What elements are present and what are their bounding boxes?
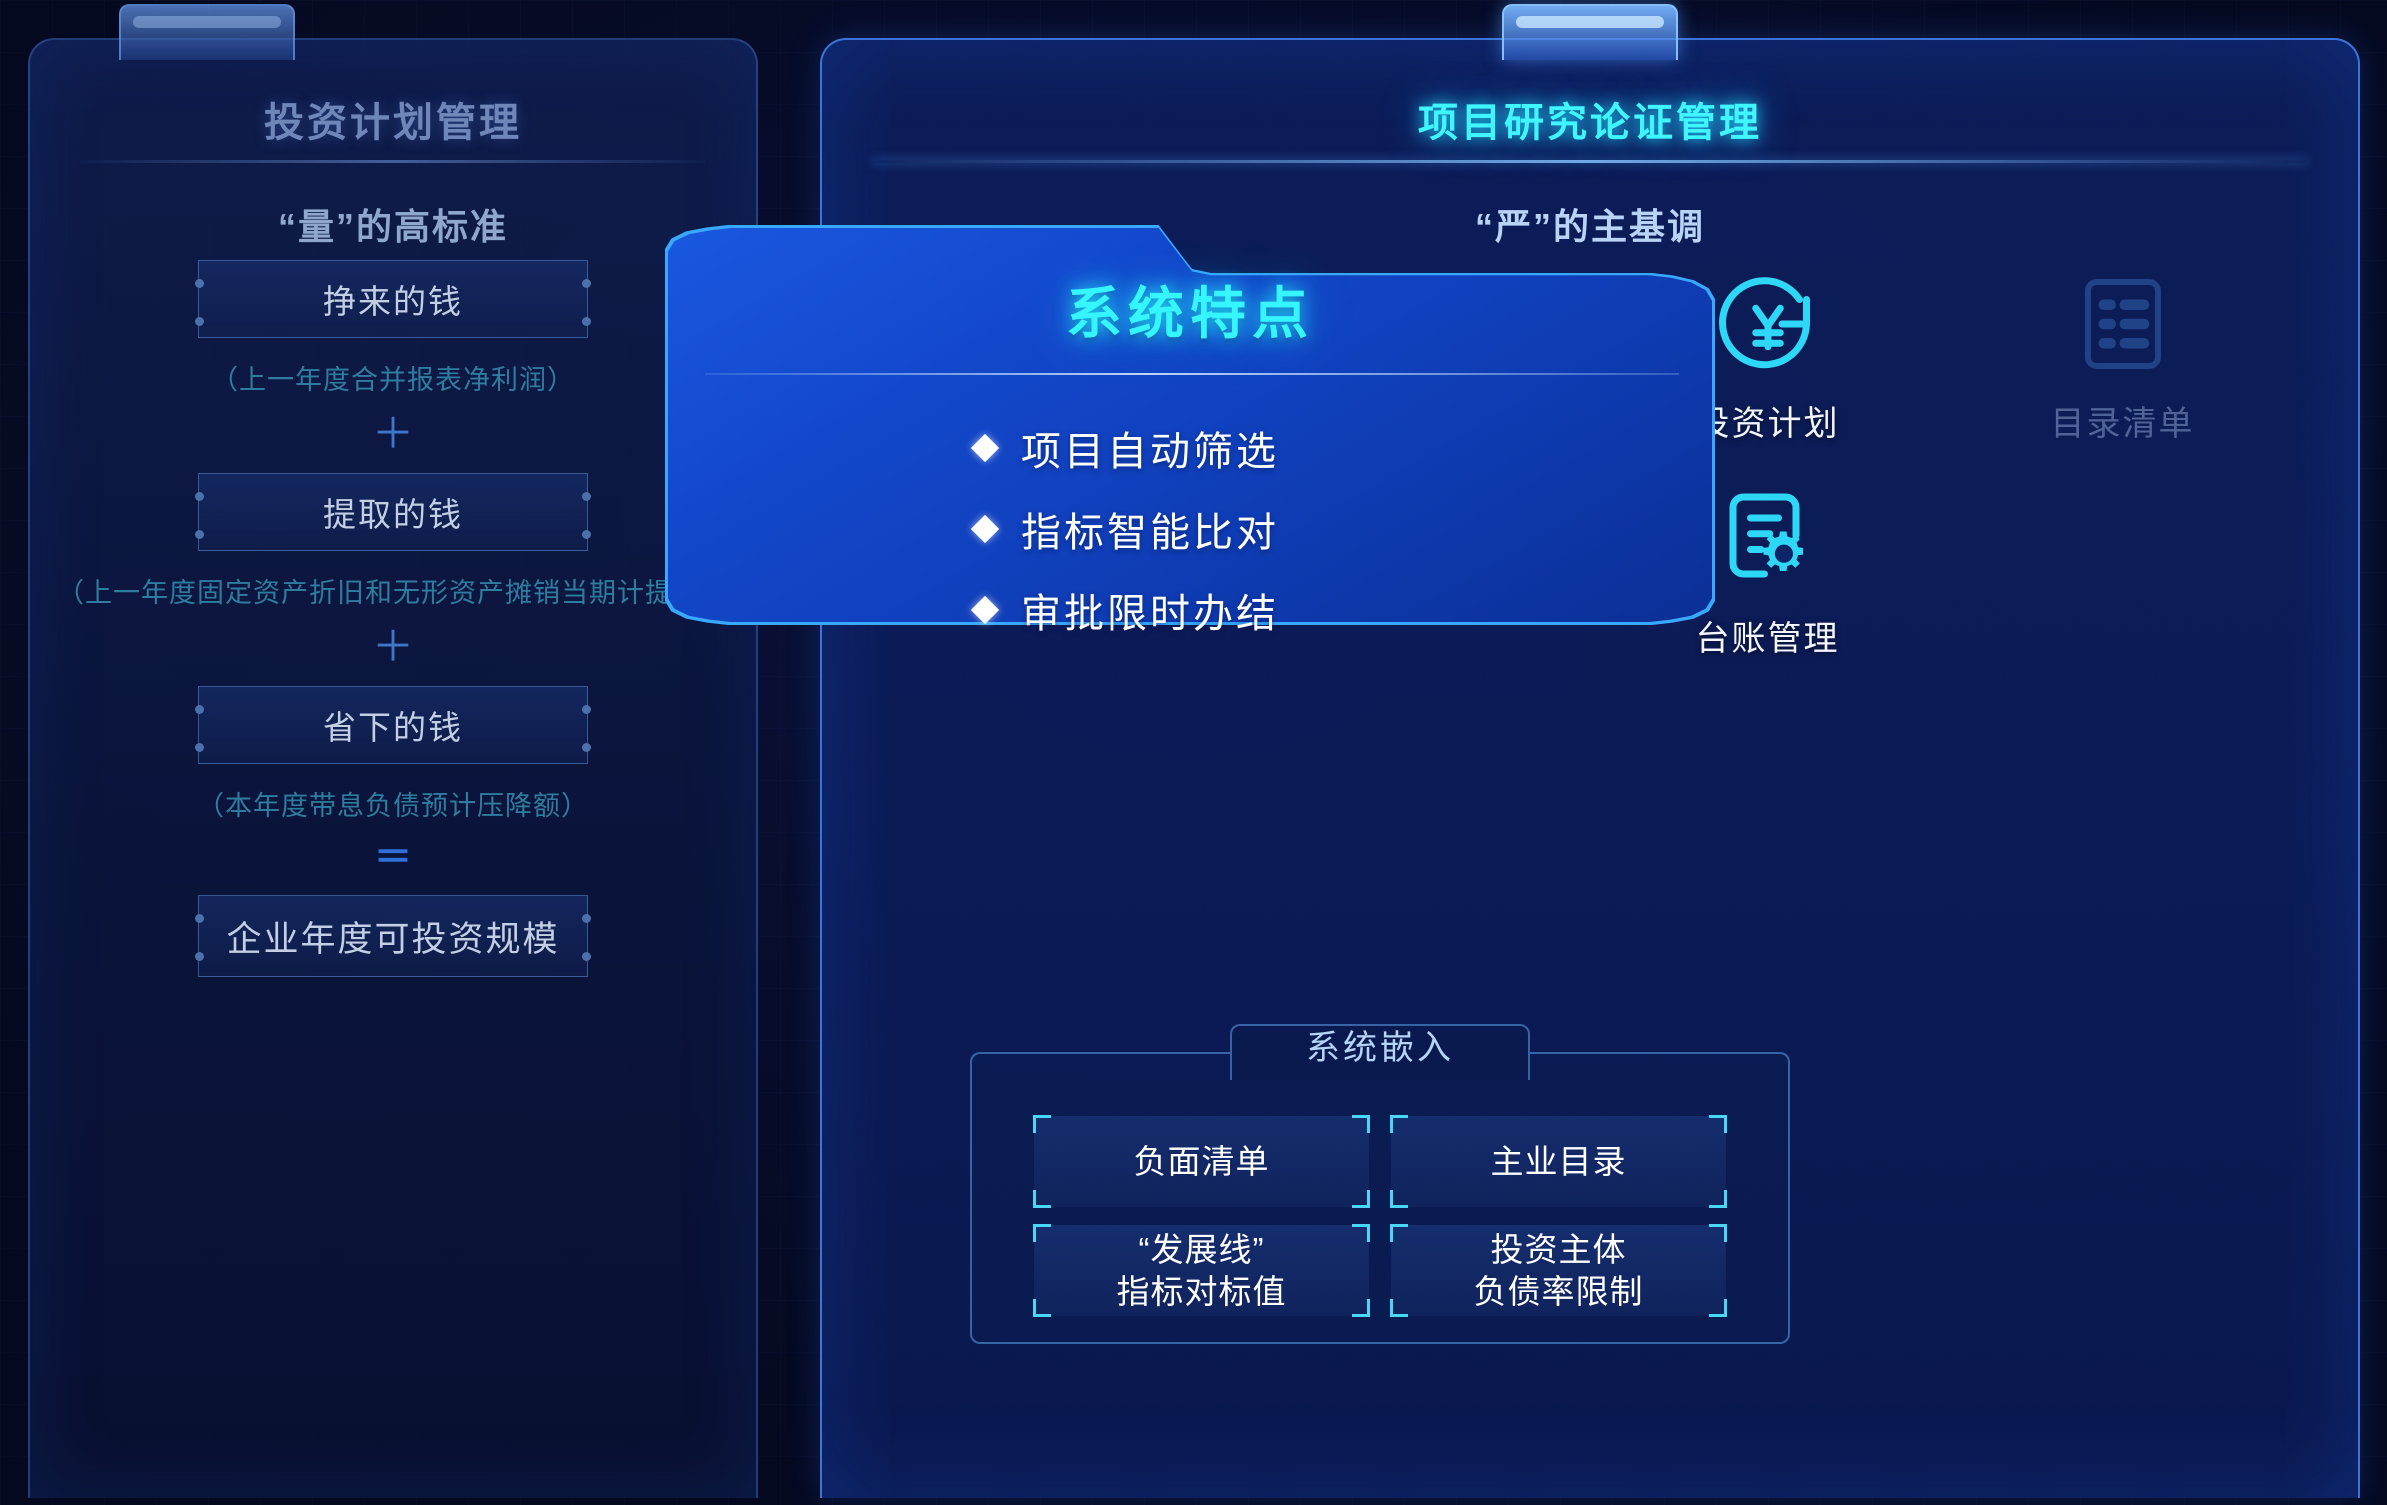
embed-cell-development-line-benchmark[interactable]: “发展线”指标对标值: [1034, 1225, 1369, 1316]
formula-note-extracted: （上一年度固定资产折旧和无形资产摊销当期计提额）: [28, 571, 758, 610]
panel-left-tab-handle[interactable]: [119, 4, 295, 60]
checklist-icon: [2063, 264, 2183, 384]
panel-right-tab-inner: [1516, 16, 1664, 28]
feature-label: 台账管理: [1696, 611, 1840, 660]
corner-mark-br: [1352, 1190, 1370, 1208]
embed-cell-negative-list[interactable]: 负面清单: [1034, 1116, 1369, 1207]
panel-left-divider: [80, 160, 706, 163]
modal-bullet-list: 项目自动筛选 指标智能比对 审批限时办结: [975, 419, 1279, 639]
corner-mark-tl: [1033, 1115, 1051, 1133]
corner-mark-tr: [1352, 1224, 1370, 1242]
corner-mark-bl: [1390, 1299, 1408, 1317]
panel-right-divider: [872, 160, 2308, 163]
embed-cell-main-business-catalog[interactable]: 主业目录: [1391, 1116, 1726, 1207]
panel-left-subtitle: “量”的高标准: [28, 198, 758, 250]
formula-box-saved[interactable]: 省下的钱: [198, 686, 588, 764]
formula-operator-plus-2: ＋: [28, 626, 758, 668]
feature-label: 投资计划: [1696, 396, 1840, 445]
embed-cell-label: “发展线”指标对标值: [1117, 1229, 1287, 1312]
modal-title: 系统特点: [665, 269, 1715, 350]
panel-investment-plan[interactable]: 投资计划管理 “量”的高标准 挣来的钱 （上一年度合并报表净利润） ＋ 提取的钱…: [28, 38, 758, 1498]
system-embed-title: 系统嵌入: [1306, 1020, 1454, 1069]
formula-operator-equals: ＝: [28, 839, 758, 877]
embed-cell-label: 主业目录: [1491, 1141, 1627, 1182]
embed-cell-label: 投资主体负债率限制: [1474, 1229, 1644, 1312]
modal-bullet-label: 指标智能比对: [1021, 500, 1279, 558]
corner-mark-tr: [1352, 1115, 1370, 1133]
formula-box-earned[interactable]: 挣来的钱: [198, 260, 588, 338]
investment-formula: 挣来的钱 （上一年度合并报表净利润） ＋ 提取的钱 （上一年度固定资产折旧和无形…: [28, 260, 758, 977]
formula-box-total[interactable]: 企业年度可投资规模: [198, 895, 588, 977]
formula-note-earned: （上一年度合并报表净利润）: [28, 358, 758, 397]
panel-left-title: 投资计划管理: [28, 90, 758, 148]
corner-mark-tl: [1033, 1224, 1051, 1242]
diamond-bullet-icon: [971, 596, 999, 624]
formula-operator-plus-1: ＋: [28, 413, 758, 455]
corner-mark-tr: [1709, 1224, 1727, 1242]
feature-label: 目录清单: [2051, 396, 2195, 445]
modal-bullet-indicator-comparison: 指标智能比对: [975, 500, 1279, 558]
slide-canvas: 投资计划管理 “量”的高标准 挣来的钱 （上一年度合并报表净利润） ＋ 提取的钱…: [0, 0, 2387, 1505]
modal-bullet-label: 项目自动筛选: [1021, 419, 1279, 477]
diamond-bullet-icon: [971, 434, 999, 462]
corner-mark-bl: [1033, 1299, 1051, 1317]
yen-circular-arrow-icon: [1708, 264, 1828, 384]
feature-item-catalog-list[interactable]: 目录清单: [1945, 264, 2300, 445]
formula-note-saved: （本年度带息负债预计压降额）: [28, 784, 758, 823]
corner-mark-bl: [1033, 1190, 1051, 1208]
panel-right-tab-handle[interactable]: [1502, 4, 1678, 60]
modal-bullet-time-limited-approval: 审批限时办结: [975, 581, 1279, 639]
corner-mark-bl: [1390, 1190, 1408, 1208]
modal-divider: [705, 373, 1679, 375]
corner-mark-tl: [1390, 1115, 1408, 1133]
corner-mark-tr: [1709, 1115, 1727, 1133]
system-embed-grid: 负面清单 主业目录 “发展线”指标对标值: [1034, 1116, 1726, 1316]
embed-cell-label: 负面清单: [1134, 1141, 1270, 1182]
system-features-modal[interactable]: 系统特点 项目自动筛选 指标智能比对 审批限时办结: [665, 225, 1715, 625]
modal-content: 系统特点 项目自动筛选 指标智能比对 审批限时办结: [665, 225, 1715, 625]
panel-left-tab-inner: [133, 16, 281, 28]
panel-right-title: 项目研究论证管理: [820, 90, 2360, 148]
diamond-bullet-icon: [971, 515, 999, 543]
system-embed-section: 系统嵌入 负面清单 主业目录: [970, 1024, 1790, 1344]
corner-mark-br: [1709, 1190, 1727, 1208]
embed-cell-investor-debt-ratio-limit[interactable]: 投资主体负债率限制: [1391, 1225, 1726, 1316]
corner-mark-br: [1709, 1299, 1727, 1317]
modal-bullet-label: 审批限时办结: [1021, 581, 1279, 639]
corner-mark-tl: [1390, 1224, 1408, 1242]
formula-box-extracted[interactable]: 提取的钱: [198, 473, 588, 551]
modal-bullet-auto-screening: 项目自动筛选: [975, 419, 1279, 477]
document-gear-icon: [1708, 479, 1828, 599]
corner-mark-br: [1352, 1299, 1370, 1317]
